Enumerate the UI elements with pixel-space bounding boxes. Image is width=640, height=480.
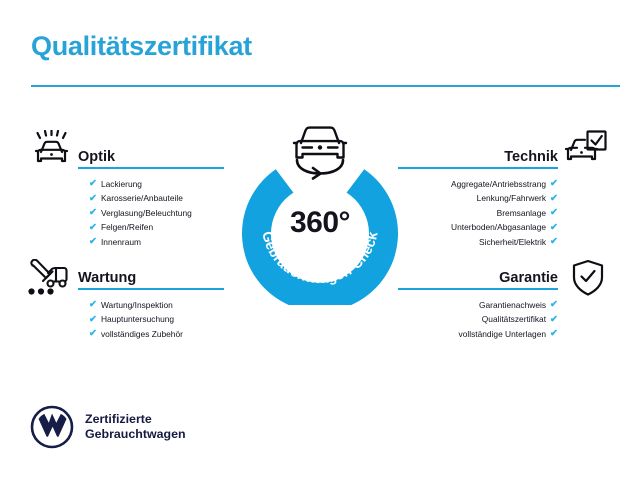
section-title: Optik: [78, 150, 115, 165]
list-item-label: Aggregate/Antriebsstrang: [451, 177, 546, 191]
section-header: Wartung: [78, 264, 224, 290]
list-item-label: Verglasung/Beleuchtung: [101, 206, 192, 220]
check-icon: ✔: [89, 208, 97, 218]
list-item: Qualitätszertifikat✔: [398, 312, 558, 326]
check-icon: ✔: [89, 315, 97, 325]
check-icon: ✔: [89, 223, 97, 233]
section-title: Garantie: [499, 271, 558, 286]
check-icon: ✔: [550, 194, 558, 204]
badge-value: 360°: [240, 208, 400, 238]
vw-logo-icon: [30, 405, 74, 449]
list-item: Sicherheit/Elektrik✔: [398, 235, 558, 249]
list-item: Aggregate/Antriebsstrang✔: [398, 177, 558, 191]
check-icon: ✔: [550, 237, 558, 247]
section-header: Technik: [398, 143, 558, 169]
check-icon: ✔: [89, 179, 97, 189]
section-technik: Technik Aggregate/Antriebsstrang✔ Lenkun…: [398, 143, 558, 249]
list-item-label: Garantienachweis: [479, 298, 546, 312]
check-icon: ✔: [89, 194, 97, 204]
list-item: ✔Karosserie/Anbauteile: [89, 191, 224, 205]
shield-check-icon: [571, 259, 605, 304]
list-item: ✔Felgen/Reifen: [89, 220, 224, 234]
list-item-label: Wartung/Inspektion: [101, 298, 173, 312]
section-optik: Optik ✔Lackierung ✔Karosserie/Anbauteile…: [78, 143, 224, 249]
brand-name: Zertifizierte Gebrauchtwagen: [85, 412, 186, 442]
list-item-label: Qualitätszertifikat: [482, 312, 546, 326]
section-header: Garantie: [398, 264, 558, 290]
list-item: vollständige Unterlagen✔: [398, 327, 558, 341]
list-item: ✔vollständiges Zubehör: [89, 327, 224, 341]
list-item: Bremsanlage✔: [398, 206, 558, 220]
list-item-label: vollständige Unterlagen: [459, 327, 547, 341]
car-wrench-icon: [26, 259, 72, 304]
list-item: Unterboden/Abgasanlage✔: [398, 220, 558, 234]
car-rotation-icon: [283, 120, 357, 182]
page-title: Qualitätszertifikat: [31, 33, 252, 60]
check-icon: ✔: [550, 315, 558, 325]
check-icon: ✔: [550, 329, 558, 339]
check-icon: ✔: [89, 237, 97, 247]
section-divider: [398, 288, 558, 290]
checklist-technik: Aggregate/Antriebsstrang✔ Lenkung/Fahrwe…: [398, 177, 558, 249]
360-gebrauchtwagen-check-badge: Gebrauchtwagen-Check 360°: [240, 120, 400, 305]
checklist-garantie: Garantienachweis✔ Qualitätszertifikat✔ v…: [398, 298, 558, 341]
list-item-label: Unterboden/Abgasanlage: [451, 220, 546, 234]
section-title: Wartung: [78, 271, 136, 286]
list-item-label: Karosserie/Anbauteile: [101, 191, 183, 205]
check-icon: ✔: [89, 300, 97, 310]
list-item: Lenkung/Fahrwerk✔: [398, 191, 558, 205]
check-icon: ✔: [550, 300, 558, 310]
list-item: ✔Verglasung/Beleuchtung: [89, 206, 224, 220]
check-icon: ✔: [550, 179, 558, 189]
brand-line-1: Zertifizierte: [85, 412, 186, 427]
list-item-label: Felgen/Reifen: [101, 220, 153, 234]
certificate-page: Qualitätszertifikat: [0, 0, 640, 480]
list-item-label: Hauptuntersuchung: [101, 312, 174, 326]
list-item-label: Lenkung/Fahrwerk: [477, 191, 546, 205]
list-item-label: Innenraum: [101, 235, 141, 249]
check-icon: ✔: [89, 329, 97, 339]
title-divider: [31, 85, 620, 87]
list-item-label: Lackierung: [101, 177, 142, 191]
list-item: ✔Lackierung: [89, 177, 224, 191]
list-item-label: Sicherheit/Elektrik: [479, 235, 546, 249]
section-garantie: Garantie Garantienachweis✔ Qualitätszert…: [398, 264, 558, 341]
checklist-optik: ✔Lackierung ✔Karosserie/Anbauteile ✔Verg…: [78, 177, 224, 249]
list-item: ✔Hauptuntersuchung: [89, 312, 224, 326]
section-title: Technik: [504, 150, 558, 165]
section-wartung: Wartung ✔Wartung/Inspektion ✔Hauptunters…: [78, 264, 224, 341]
check-icon: ✔: [550, 223, 558, 233]
brand-footer: Zertifizierte Gebrauchtwagen: [30, 405, 186, 449]
checklist-wartung: ✔Wartung/Inspektion ✔Hauptuntersuchung ✔…: [78, 298, 224, 341]
section-divider: [78, 288, 224, 290]
brand-line-2: Gebrauchtwagen: [85, 427, 186, 442]
list-item: ✔Wartung/Inspektion: [89, 298, 224, 312]
check-icon: ✔: [550, 208, 558, 218]
list-item-label: Bremsanlage: [497, 206, 546, 220]
car-shine-icon: [29, 130, 73, 175]
list-item: ✔Innenraum: [89, 235, 224, 249]
section-divider: [78, 167, 224, 169]
list-item: Garantienachweis✔: [398, 298, 558, 312]
list-item-label: vollständiges Zubehör: [101, 327, 183, 341]
section-header: Optik: [78, 143, 224, 169]
car-checkbox-icon: [563, 130, 607, 175]
section-divider: [398, 167, 558, 169]
